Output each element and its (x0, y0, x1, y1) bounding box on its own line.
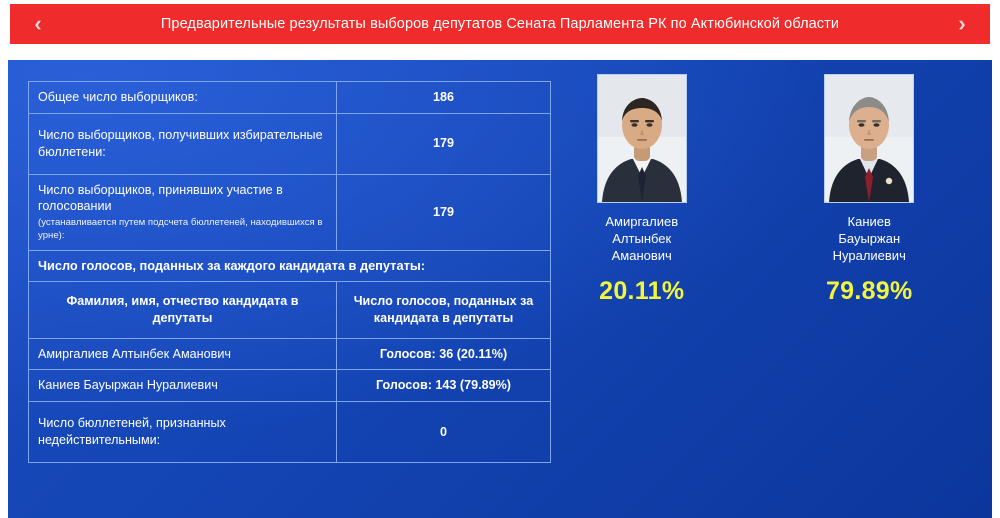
table-row: Каниев Бауыржан Нуралиевич Голосов: 143 … (29, 370, 551, 402)
next-slide-arrow-icon[interactable]: › (950, 13, 974, 35)
candidate-name-label-2: Каниев Бауыржан Нуралиевич (784, 213, 954, 264)
slide-title-bar: ‹ Предварительные результаты выборов деп… (10, 4, 990, 44)
portrait-illustration-icon (598, 75, 686, 202)
row-value-participated: 179 (337, 174, 551, 250)
candidate-votes-2: Голосов: 143 (79.89%) (337, 370, 551, 402)
table-row: Число выборщиков, получивших избирательн… (29, 113, 551, 174)
section-title-votes-per-candidate: Число голосов, поданных за каждого канди… (29, 250, 551, 282)
table-row-section-title: Число голосов, поданных за каждого канди… (29, 250, 551, 282)
row-label-participated: Число выборщиков, принявших участие в го… (29, 174, 337, 250)
column-header-votes: Число голосов, поданных за кандидата в д… (337, 282, 551, 338)
candidate-card-1: Амиргалиев Алтынбек Аманович 20.11% (557, 74, 727, 306)
row-label-total-electors: Общее число выборщиков: (29, 82, 337, 114)
results-panel: Общее число выборщиков: 186 Число выборщ… (8, 60, 992, 518)
row-value-total-electors: 186 (337, 82, 551, 114)
candidate-name-label-1: Амиргалиев Алтынбек Аманович (557, 213, 727, 264)
candidate-photo-2 (824, 74, 914, 203)
candidate-cards: Амиргалиев Алтынбек Аманович 20.11% (528, 74, 983, 306)
column-header-candidate-name: Фамилия, имя, отчество кандидата в депут… (29, 282, 337, 338)
prev-slide-arrow-icon[interactable]: ‹ (26, 13, 50, 35)
row-value-invalid-ballots: 0 (337, 401, 551, 462)
candidate-card-2: Каниев Бауыржан Нуралиевич 79.89% (784, 74, 954, 306)
row-value-ballots-received: 179 (337, 113, 551, 174)
row-label-ballots-received: Число выборщиков, получивших избирательн… (29, 113, 337, 174)
candidate-percent-1: 20.11% (557, 277, 727, 306)
candidate-name-2: Каниев Бауыржан Нуралиевич (29, 370, 337, 402)
table-row: Число выборщиков, принявших участие в го… (29, 174, 551, 250)
portrait-illustration-icon (825, 75, 913, 202)
candidate-photo-1 (597, 74, 687, 203)
table-row: Число бюллетеней, признанных недействите… (29, 401, 551, 462)
row-label-invalid-ballots: Число бюллетеней, признанных недействите… (29, 401, 337, 462)
table-header-row: Фамилия, имя, отчество кандидата в депут… (29, 282, 551, 338)
candidate-votes-1: Голосов: 36 (20.11%) (337, 338, 551, 370)
election-results-table: Общее число выборщиков: 186 Число выборщ… (28, 81, 551, 463)
candidate-name-1: Амиргалиев Алтынбек Аманович (29, 338, 337, 370)
row-label-participated-main: Число выборщиков, принявших участие в го… (38, 183, 283, 214)
table-row: Общее число выборщиков: 186 (29, 82, 551, 114)
candidate-percent-2: 79.89% (784, 277, 954, 306)
page-title: Предварительные результаты выборов депут… (50, 16, 950, 32)
table-row: Амиргалиев Алтынбек Аманович Голосов: 36… (29, 338, 551, 370)
row-label-participated-note: (устанавливается путем подсчета бюллетен… (38, 217, 327, 243)
